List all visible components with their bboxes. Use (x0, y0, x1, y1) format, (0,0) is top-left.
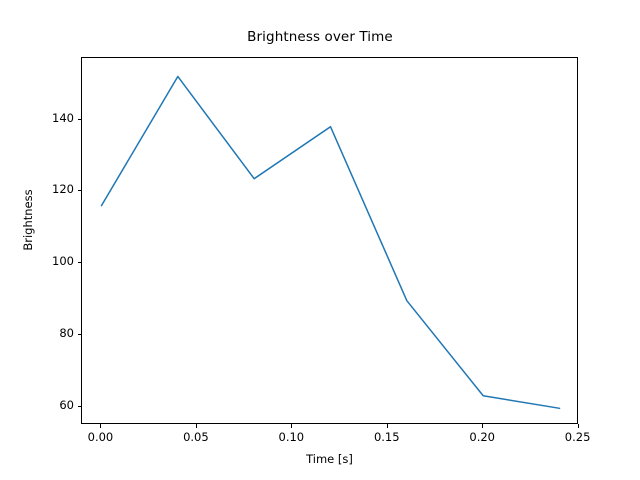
y-tick-label: 100 (14, 254, 74, 268)
data-line-brightness (101, 76, 559, 408)
matplotlib-figure: Brightness over Time Time [s] Brightness… (0, 0, 640, 480)
x-tick-label: 0.05 (166, 430, 226, 444)
x-tick-mark (578, 424, 579, 428)
y-axis-label: Brightness (21, 150, 35, 290)
chart-title: Brightness over Time (0, 29, 640, 45)
x-tick-mark (482, 424, 483, 428)
y-tick-mark (78, 334, 82, 335)
x-tick-label: 0.20 (452, 430, 512, 444)
y-tick-label: 140 (14, 111, 74, 125)
y-tick-mark (78, 406, 82, 407)
line-series-svg (82, 58, 579, 425)
x-tick-label: 0.15 (357, 430, 417, 444)
plot-area (81, 57, 578, 424)
y-tick-label: 60 (14, 398, 74, 412)
y-tick-mark (78, 119, 82, 120)
x-tick-label: 0.25 (548, 430, 608, 444)
x-tick-mark (387, 424, 388, 428)
y-tick-mark (78, 190, 82, 191)
x-tick-mark (196, 424, 197, 428)
x-axis-label: Time [s] (81, 452, 578, 466)
x-tick-label: 0.10 (261, 430, 321, 444)
x-tick-mark (100, 424, 101, 428)
x-tick-label: 0.00 (70, 430, 130, 444)
x-tick-mark (291, 424, 292, 428)
y-tick-label: 120 (14, 182, 74, 196)
y-tick-mark (78, 262, 82, 263)
y-tick-label: 80 (14, 326, 74, 340)
